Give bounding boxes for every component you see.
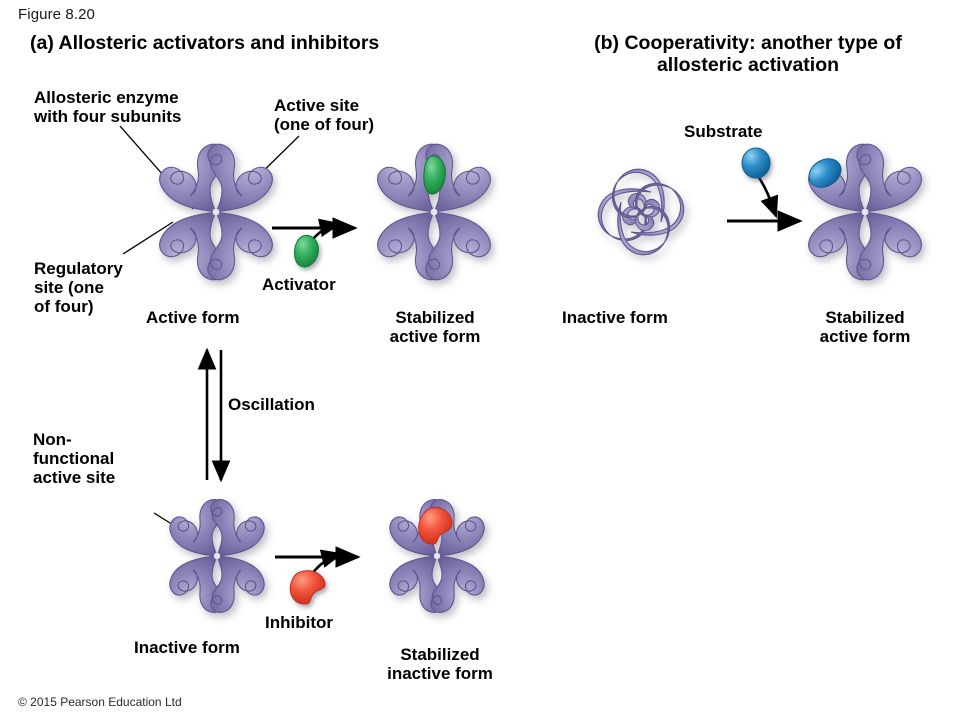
label-b-inactive-form: Inactive form [562, 308, 668, 327]
callout-active-site-label: Active site (one of four) [274, 96, 374, 134]
molecule-stabilized-active-form [378, 144, 491, 279]
activator-molecule-free [294, 235, 318, 266]
label-stabilized-inactive-form: Stabilized inactive form [362, 645, 518, 683]
substrate-molecule-bound [804, 153, 847, 193]
label-stabilized-active-form: Stabilized active form [360, 308, 510, 346]
binding-arrow-activator [306, 224, 339, 251]
oscillation-arrows [207, 350, 221, 480]
label-inhibitor: Inhibitor [265, 613, 333, 632]
molecule-stabilized-inactive-form [390, 500, 484, 613]
callout-regulatory-site-label: Regulatory site (one of four) [34, 259, 123, 317]
copyright-notice: © 2015 Pearson Education Ltd [18, 695, 182, 709]
label-oscillation: Oscillation [228, 395, 315, 414]
molecule-b-inactive-form [598, 169, 684, 255]
label-inactive-form: Inactive form [134, 638, 240, 657]
callout-allosteric-enzyme-label: Allosteric enzyme with four subunits [34, 88, 181, 126]
figure-number: Figure 8.20 [18, 6, 95, 23]
callout-nonfunctional-site-label: Non- functional active site [33, 430, 115, 488]
label-substrate: Substrate [684, 122, 762, 141]
molecule-b-stabilized-active-form [804, 144, 922, 279]
panel-a-title: (a) Allosteric activators and inhibitors [30, 33, 379, 55]
panel-b-title: (b) Cooperativity: another type of allos… [562, 33, 934, 77]
activator-molecule-bound [424, 156, 446, 194]
binding-arrow-inhibitor [306, 554, 341, 585]
molecule-active-form [160, 144, 273, 279]
label-active-form: Active form [146, 308, 240, 327]
label-b-stabilized-active-form: Stabilized active form [790, 308, 940, 346]
molecule-inactive-form [170, 500, 264, 613]
substrate-molecule-free [742, 148, 770, 178]
binding-arrow-substrate [758, 176, 776, 216]
inhibitor-molecule-free [290, 571, 325, 604]
callout-leader-lines [120, 126, 299, 531]
label-activator: Activator [262, 275, 336, 294]
inhibitor-molecule-bound [419, 508, 452, 544]
